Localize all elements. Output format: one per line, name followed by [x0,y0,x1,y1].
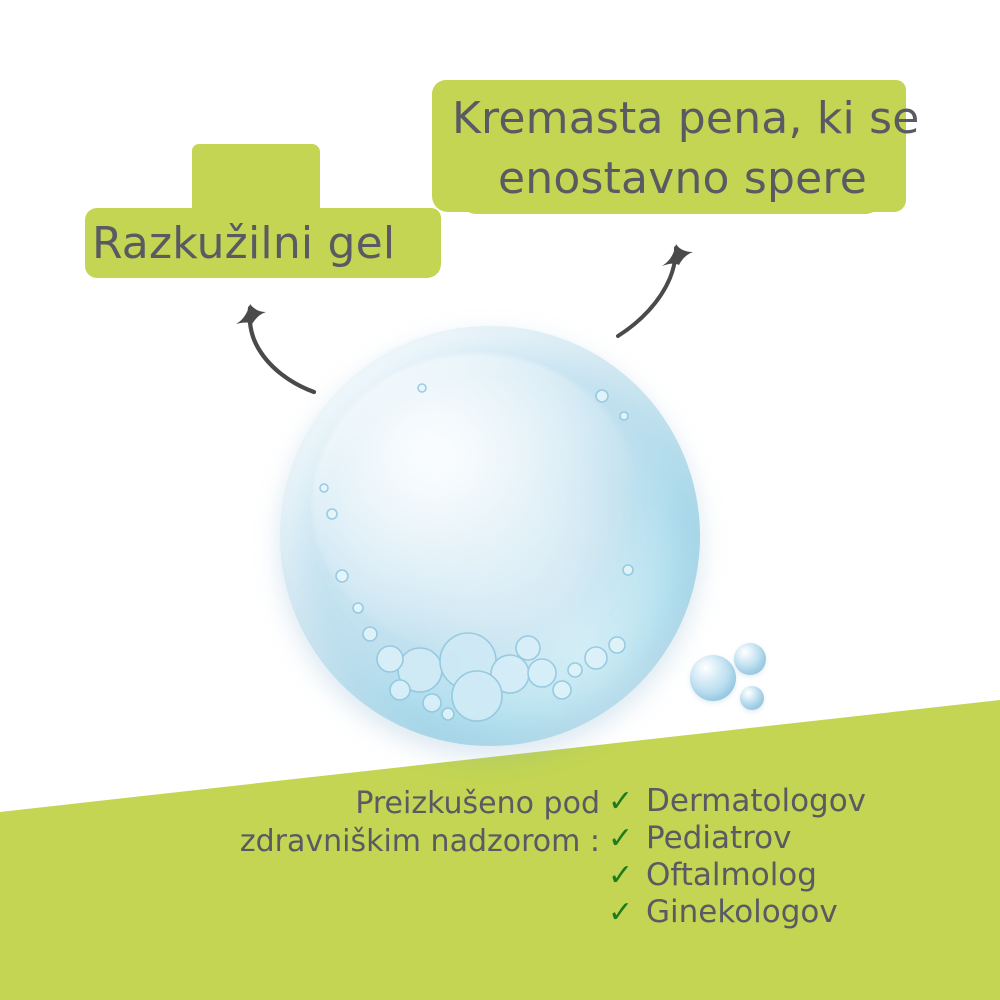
curved-arrow-up-right-icon [608,228,728,348]
footer-intro-line1: Preizkušeno pod [210,785,600,823]
check-icon: ✓ [608,861,634,891]
curved-arrow-up-left-icon [218,288,338,408]
callout-right-label-line1: Kremasta pena, ki se [452,93,920,144]
footer-intro-line2: zdravniškim nadzorom : [210,823,600,861]
list-item: ✓ Pediatrov [608,820,866,857]
left-highlight-accent [192,144,320,214]
list-item: ✓ Dermatologov [608,783,866,820]
footer-intro: Preizkušeno pod zdravniškim nadzorom : [210,785,600,861]
check-icon: ✓ [608,787,634,817]
list-item-label: Oftalmolog [646,860,817,891]
approval-list: ✓ Dermatologov ✓ Pediatrov ✓ Oftalmolog … [608,783,866,931]
callout-right-label-line2: enostavno spere [498,153,867,204]
list-item-label: Dermatologov [646,786,866,817]
poster-canvas: Razkužilni gel Kremasta pena, ki se enos… [0,0,1000,1000]
list-item: ✓ Ginekologov [608,894,866,931]
callout-left-label: Razkužilni gel [92,218,395,269]
list-item-label: Pediatrov [646,823,791,854]
droplet-small [740,686,764,710]
check-icon: ✓ [608,898,634,928]
droplet-medium [734,643,766,675]
list-item: ✓ Oftalmolog [608,857,866,894]
check-icon: ✓ [608,824,634,854]
list-item-label: Ginekologov [646,897,838,928]
droplet-large [690,655,736,701]
